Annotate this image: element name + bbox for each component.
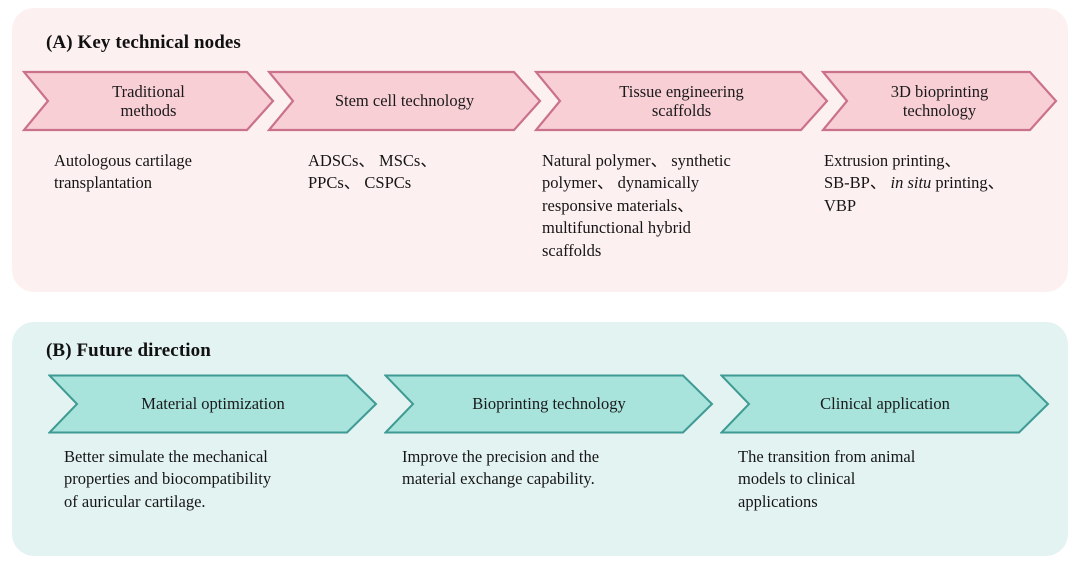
chevron-node-clinical-application[interactable]: Clinical application — [720, 374, 1050, 434]
desc-line: SB-BP、 in situ printing、 — [824, 173, 1004, 192]
desc-line: The transition from animal — [738, 447, 915, 466]
desc-line: Better simulate the mechanical — [64, 447, 268, 466]
chevron-label: Tissue engineeringscaffolds — [609, 82, 754, 121]
chevron-node-3d-bioprinting-technology[interactable]: 3D bioprintingtechnology — [821, 70, 1058, 132]
description-tissue-engineering-scaffolds: Natural polymer、 synthetic polymer、 dyna… — [542, 150, 812, 262]
desc-line: material exchange capability. — [402, 469, 595, 488]
desc-line: models to clinical — [738, 469, 855, 488]
chevron-label: 3D bioprintingtechnology — [881, 82, 999, 121]
desc-line: ADSCs、 MSCs、 — [308, 151, 437, 170]
chevron-row-a: Traditionalmethods Stem cell technology … — [22, 70, 1058, 132]
desc-line: PPCs、 CSPCs — [308, 173, 411, 192]
desc-line: applications — [738, 492, 818, 511]
description-clinical-application: The transition from animal models to cli… — [738, 446, 1028, 513]
chevron-node-material-optimization[interactable]: Material optimization — [48, 374, 378, 434]
desc-line: VBP — [824, 196, 856, 215]
chevron-label: Stem cell technology — [325, 91, 484, 110]
panel-b-title: (B) Future direction — [46, 340, 211, 362]
description-traditional-methods: Autologous cartilage transplantation — [54, 150, 284, 195]
description-bioprinting-technology: Improve the precision and the material e… — [402, 446, 702, 491]
chevron-label: Bioprinting technology — [462, 394, 636, 413]
desc-line: polymer、 dynamically — [542, 173, 699, 192]
description-material-optimization: Better simulate the mechanical propertie… — [64, 446, 374, 513]
panel-key-technical-nodes: (A) Key technical nodes Traditionalmetho… — [12, 8, 1068, 292]
chevron-label: Clinical application — [810, 394, 960, 413]
desc-line: scaffolds — [542, 241, 601, 260]
desc-line: of auricular cartilage. — [64, 492, 206, 511]
panel-future-direction: (B) Future direction Material optimizati… — [12, 322, 1068, 556]
desc-seg: printing、 — [931, 173, 1004, 192]
chevron-node-stem-cell-technology[interactable]: Stem cell technology — [267, 70, 542, 132]
desc-seg-italic: in situ — [890, 173, 931, 192]
desc-seg: SB-BP、 — [824, 173, 890, 192]
chevron-label: Traditionalmethods — [102, 82, 195, 121]
desc-line: responsive materials、 — [542, 196, 694, 215]
description-3d-bioprinting-technology: Extrusion printing、 SB-BP、 in situ print… — [824, 150, 1074, 217]
desc-line: properties and biocompatibility — [64, 469, 271, 488]
chevron-node-bioprinting-technology[interactable]: Bioprinting technology — [384, 374, 714, 434]
chevron-node-tissue-engineering-scaffolds[interactable]: Tissue engineeringscaffolds — [534, 70, 829, 132]
desc-line: multifunctional hybrid — [542, 218, 691, 237]
chevron-row-b: Material optimization Bioprinting techno… — [48, 374, 1048, 434]
desc-line: Improve the precision and the — [402, 447, 599, 466]
desc-line: Extrusion printing、 — [824, 151, 961, 170]
desc-line: Natural polymer、 synthetic — [542, 151, 731, 170]
description-stem-cell-technology: ADSCs、 MSCs、 PPCs、 CSPCs — [308, 150, 538, 195]
desc-line: transplantation — [54, 173, 152, 192]
desc-line: Autologous cartilage — [54, 151, 192, 170]
panel-a-title: (A) Key technical nodes — [46, 32, 241, 54]
chevron-node-traditional-methods[interactable]: Traditionalmethods — [22, 70, 275, 132]
chevron-label: Material optimization — [131, 394, 294, 413]
